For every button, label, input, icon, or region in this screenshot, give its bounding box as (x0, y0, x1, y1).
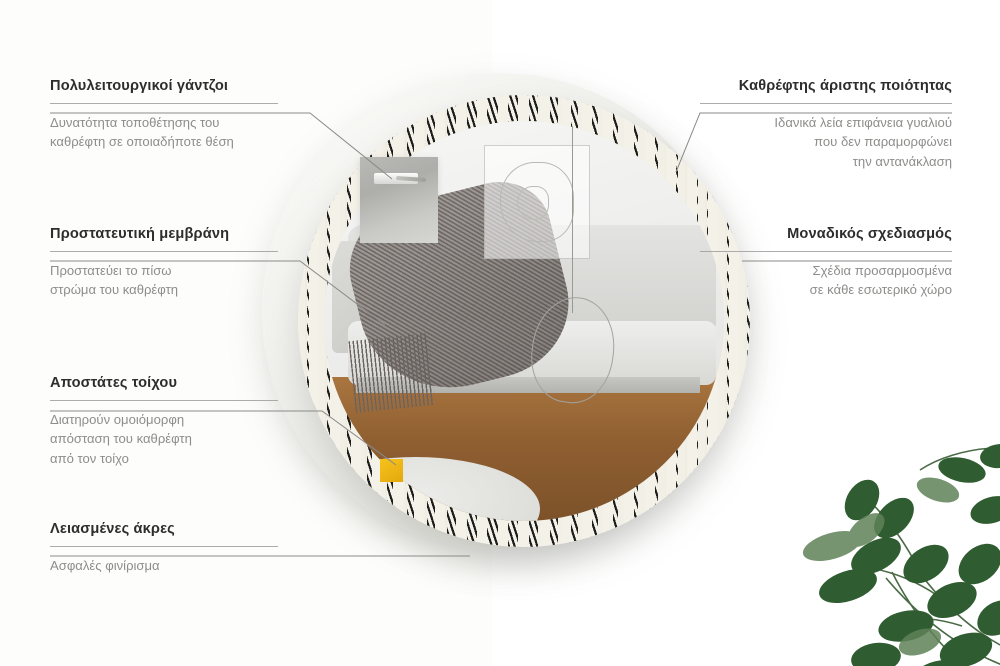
callout-line: καθρέφτη σε οποιαδήποτε θέση (50, 134, 234, 149)
callout-text: Ιδανικά λεία επιφάνεια γυαλιού που δεν π… (700, 113, 952, 173)
callout-hooks: Πολυλειτουργικοί γάντζοι Δυνατότητα τοπο… (50, 78, 278, 152)
callout-smoothed-edges: Λειασμένες άκρες Ασφαλές φινίρισμα (50, 521, 278, 575)
callout-line: την αντανάκλαση (853, 154, 952, 169)
callout-line: από τον τοίχο (50, 451, 129, 466)
callout-title: Προστατευτική μεμβράνη (50, 226, 278, 244)
callout-protective-membrane: Προστατευτική μεμβράνη Προστατεύει το πί… (50, 226, 278, 300)
product-mirror-group (262, 73, 738, 549)
callout-text: Ασφαλές φινίρισμα (50, 556, 278, 576)
callout-rule (50, 251, 278, 252)
line-art-face-icon (500, 162, 575, 243)
wall-spacer-detail (380, 459, 403, 482)
reflected-pendant-wire (572, 121, 573, 313)
callout-line: σε κάθε εσωτερικό χώρο (810, 282, 952, 297)
callout-text: Σχέδια προσαρμοσμένα σε κάθε εσωτερικό χ… (700, 261, 952, 301)
callout-rule (50, 103, 278, 104)
callout-line: Δυνατότητα τοποθέτησης του (50, 115, 219, 130)
callout-line: Σχέδια προσαρμοσμένα (813, 263, 952, 278)
callout-title: Αποστάτες τοίχου (50, 375, 278, 393)
callout-line: στρώμα του καθρέφτη (50, 282, 178, 297)
hanging-hook-detail (360, 157, 438, 243)
callout-top-quality-mirror: Καθρέφτης άριστης ποιότητας Ιδανικά λεία… (700, 78, 952, 172)
callout-text: Προστατεύει το πίσω στρώμα του καθρέφτη (50, 261, 278, 301)
callout-line: απόσταση του καθρέφτη (50, 431, 192, 446)
callout-line: που δεν παραμορφώνει (814, 134, 952, 149)
callout-unique-design: Μοναδικός σχεδιασμός Σχέδια προσαρμοσμέν… (700, 226, 952, 300)
callout-rule (50, 546, 278, 547)
callout-line: Προστατεύει το πίσω (50, 263, 172, 278)
callout-wall-spacers: Αποστάτες τοίχου Διατηρούν ομοιόμορφη απ… (50, 375, 278, 469)
reflected-throw-fringe (348, 333, 435, 413)
callout-line: Ιδανικά λεία επιφάνεια γυαλιού (774, 115, 952, 130)
infographic-canvas: Πολυλειτουργικοί γάντζοι Δυνατότητα τοπο… (0, 0, 1000, 666)
callout-title: Καθρέφτης άριστης ποιότητας (700, 78, 952, 96)
reflected-wall-art (484, 145, 590, 259)
callout-line: Διατηρούν ομοιόμορφη (50, 412, 184, 427)
callout-title: Πολυλειτουργικοί γάντζοι (50, 78, 278, 96)
callout-title: Λειασμένες άκρες (50, 521, 278, 539)
callout-rule (700, 251, 952, 252)
callout-text: Δυνατότητα τοποθέτησης του καθρέφτη σε ο… (50, 113, 278, 153)
foliage (680, 350, 1000, 666)
callout-rule (50, 400, 278, 401)
callout-line: Ασφαλές φινίρισμα (50, 558, 160, 573)
callout-text: Διατηρούν ομοιόμορφη απόσταση του καθρέφ… (50, 410, 278, 470)
callout-rule (700, 103, 952, 104)
callout-title: Μοναδικός σχεδιασμός (700, 226, 952, 244)
hook-bracket-icon (374, 173, 418, 184)
